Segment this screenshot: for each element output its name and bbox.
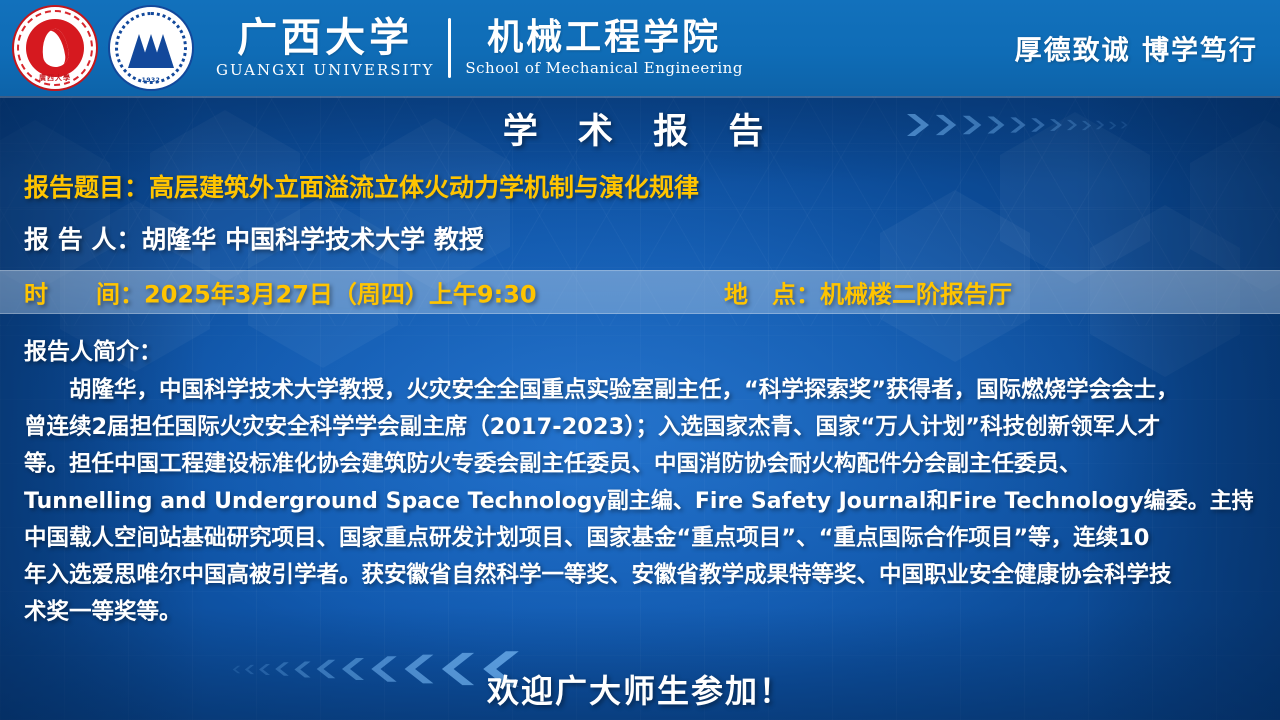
time-label: 时 间： xyxy=(24,281,144,309)
place-label: 地 点： xyxy=(724,281,820,309)
seal-flame-emblem xyxy=(26,19,84,77)
place-value: 机械楼二阶报告厅 xyxy=(820,281,1012,309)
bio-line: 中国载人空间站基础研究项目、国家重点研发计划项目、国家基金“重点项目”、“重点国… xyxy=(24,520,1258,557)
bio-line: 曾连续2届担任国际火灾安全科学学会副主席（2017-2023）；入选国家杰青、国… xyxy=(24,409,1258,446)
bio-line: 年入选爱思唯尔中国高被引学者。获安徽省自然科学一等奖、安徽省教学成果特等奖、中国… xyxy=(24,557,1258,594)
bio-label: 报告人简介： xyxy=(24,332,162,366)
time-row: 时 间：2025年3月27日（周四）上午9:30 xyxy=(24,275,537,310)
time-value: 2025年3月27日（周四）上午9:30 xyxy=(144,281,537,309)
university-name-en: GUANGXI UNIVERSITY xyxy=(216,61,434,79)
topic-label: 报告题目： xyxy=(24,173,149,202)
page-title: 学 术 报 告 xyxy=(0,103,1280,154)
guangxi-university-seal-icon: 廣西大學 xyxy=(12,5,98,91)
university-motto: 厚德致诚 博学笃行 xyxy=(1015,29,1258,68)
topic-value: 高层建筑外立面溢流立体火动力学机制与演化规律 xyxy=(149,173,699,202)
speaker-value: 胡隆华 中国科学技术大学 教授 xyxy=(141,225,483,254)
bio-line: Tunnelling and Underground Space Technol… xyxy=(24,483,1258,520)
poster-header: 廣西大學 1932 广西大学 GUANGXI UNIVERSITY 机械工程学院… xyxy=(0,0,1280,96)
university-wordmark: 广西大学 GUANGXI UNIVERSITY xyxy=(216,17,434,79)
university-name-cn: 广西大学 xyxy=(216,17,434,59)
logo-group: 廣西大學 1932 广西大学 GUANGXI UNIVERSITY 机械工程学院… xyxy=(0,5,743,91)
school-wordmark: 机械工程学院 School of Mechanical Engineering xyxy=(465,19,743,78)
speaker-row: 报 告 人：胡隆华 中国科学技术大学 教授 xyxy=(24,220,484,256)
wordmark: 广西大学 GUANGXI UNIVERSITY 机械工程学院 School of… xyxy=(204,17,743,79)
speaker-label: 报 告 人： xyxy=(24,225,141,254)
seal-mountain-emblem xyxy=(128,28,174,68)
seminar-poster: 廣西大學 1932 广西大学 GUANGXI UNIVERSITY 机械工程学院… xyxy=(0,0,1280,720)
time-place-bar: 时 间：2025年3月27日（周四）上午9:30 地 点：机械楼二阶报告厅 xyxy=(0,270,1280,314)
place-row: 地 点：机械楼二阶报告厅 xyxy=(724,275,1012,310)
school-name-cn: 机械工程学院 xyxy=(465,19,743,57)
bio-line: 胡隆华，中国科学技术大学教授，火灾安全全国重点实验室副主任，“科学探索奖”获得者… xyxy=(24,372,1258,409)
wordmark-divider xyxy=(448,18,451,78)
bio-line: 等。担任中国工程建设标准化协会建筑防火专委会副主任委员、中国消防协会耐火构配件分… xyxy=(24,446,1258,483)
seal-caption: 廣西大學 xyxy=(14,73,96,83)
seal-year: 1932 xyxy=(110,77,192,84)
bio-text: 胡隆华，中国科学技术大学教授，火灾安全全国重点实验室副主任，“科学探索奖”获得者… xyxy=(24,372,1258,631)
topic-row: 报告题目：高层建筑外立面溢流立体火动力学机制与演化规律 xyxy=(24,168,699,204)
school-name-en: School of Mechanical Engineering xyxy=(465,59,743,77)
bio-line: 术奖一等奖等。 xyxy=(24,594,1258,631)
welcome-message: 欢迎广大师生参加！ xyxy=(0,666,1280,712)
school-of-mechanical-engineering-seal-icon: 1932 xyxy=(108,5,194,91)
